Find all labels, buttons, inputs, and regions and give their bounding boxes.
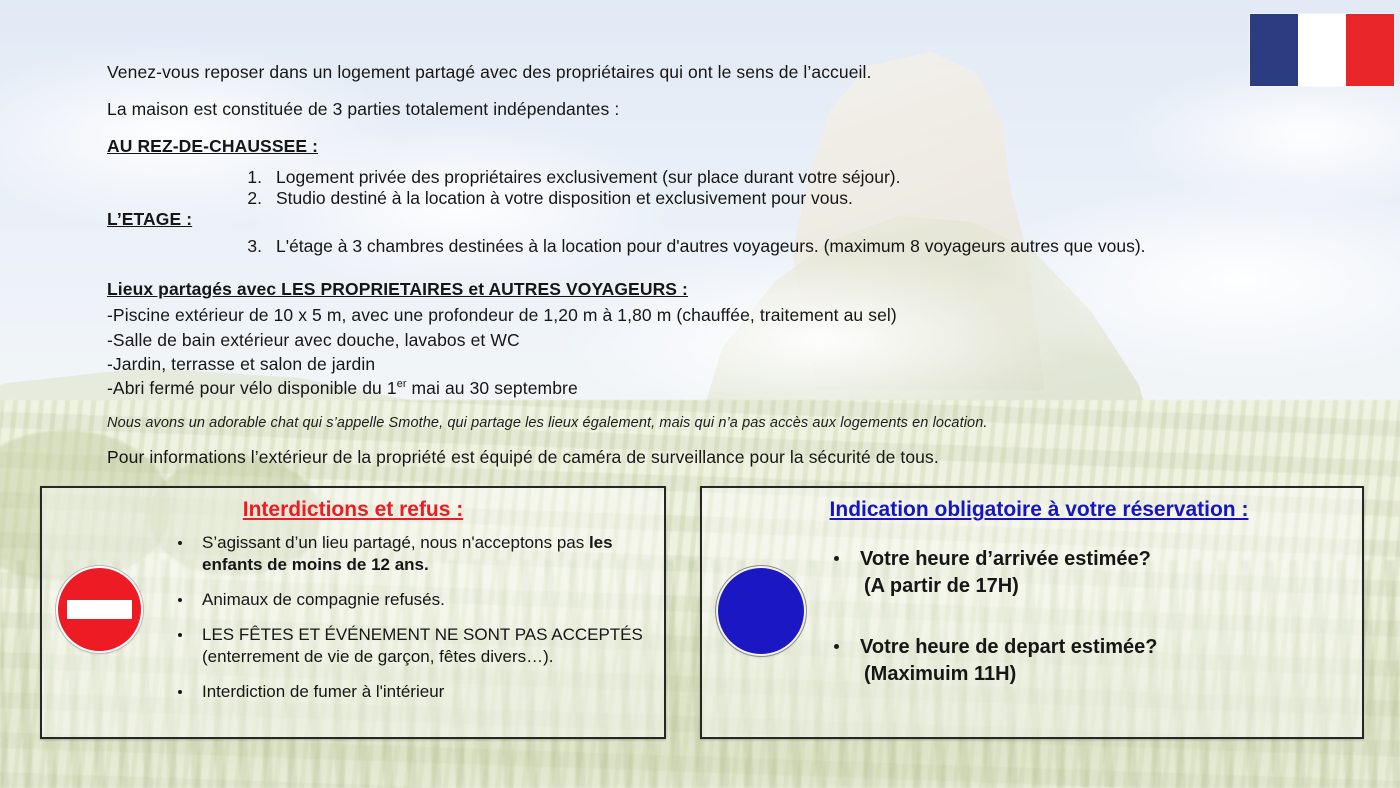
arrival-detail: (A partir de 17H) [860,573,1340,600]
indications-title: Indication obligatoire à votre réservati… [702,498,1362,522]
heading-upper-floor: L’ETAGE : [107,209,192,231]
shared-item-pool: -Piscine extérieur de 10 x 5 m, avec une… [107,305,897,327]
list-text: Studio destiné à la location à votre dis… [276,188,853,209]
list-text: L'étage à 3 chambres destinées à la loca… [276,236,1146,257]
blue-disc-icon [718,568,804,654]
slide: Venez-vous reposer dans un logement part… [0,0,1400,788]
bike-suffix: mai au 30 septembre [407,378,578,398]
list-item: Votre heure d’arrivée estimée? (A partir… [820,546,1340,600]
shared-item-garden: -Jardin, terrasse et salon de jardin [107,354,375,376]
indications-list: Votre heure d’arrivée estimée? (A partir… [820,546,1340,722]
heading-ground-floor: AU REZ-DE-CHAUSSEE : [107,136,318,158]
shared-item-bathroom: -Salle de bain extérieur avec douche, la… [107,330,520,352]
list-text: Logement privée des propriétaires exclus… [276,167,900,188]
bullet-text: Animaux de compagnie refusés. [202,590,445,609]
list-item: S’agissant d’un lieu partagé, nous n'acc… [162,532,644,576]
interdictions-title: Interdictions et refus : [42,498,664,522]
no-entry-bar [67,600,132,619]
bike-prefix: -Abri fermé pour vélo disponible du 1 [107,378,397,398]
list-item: LES FÊTES ET ÉVÉNEMENT NE SONT PAS ACCEP… [162,624,644,668]
no-entry-icon [58,568,141,651]
interdictions-list: S’agissant d’un lieu partagé, nous n'acc… [162,532,644,717]
note-cat: Nous avons un adorable chat qui s’appell… [107,414,988,432]
list-number: 1. [228,167,262,188]
list-item: Interdiction de fumer à l'intérieur [162,681,644,703]
departure-question: Votre heure de depart estimée? [860,636,1158,658]
arrival-question: Votre heure d’arrivée estimée? [860,548,1151,570]
bullet-text: Interdiction de fumer à l'intérieur [202,682,444,701]
list-item: Votre heure de depart estimée? (Maximuim… [820,634,1340,688]
intro-line-1: Venez-vous reposer dans un logement part… [107,62,872,84]
bike-superscript: er [397,378,407,390]
indications-box: Indication obligatoire à votre réservati… [700,486,1364,739]
note-surveillance: Pour informations l’extérieur de la prop… [107,447,939,469]
interdictions-box: Interdictions et refus : S’agissant d’un… [40,486,666,739]
bullet-text: LES FÊTES ET ÉVÉNEMENT NE SONT PAS ACCEP… [202,625,643,666]
list-number: 3. [228,236,262,257]
departure-detail: (Maximuim 11H) [860,661,1340,688]
heading-shared-places: Lieux partagés avec LES PROPRIETAIRES et… [107,279,688,301]
list-number: 2. [228,188,262,209]
shared-item-bike-shelter: -Abri fermé pour vélo disponible du 1er … [107,378,578,400]
bullet-text: S’agissant d’un lieu partagé, nous n'acc… [202,533,589,552]
intro-line-2: La maison est constituée de 3 parties to… [107,99,619,121]
list-item: Animaux de compagnie refusés. [162,589,644,611]
